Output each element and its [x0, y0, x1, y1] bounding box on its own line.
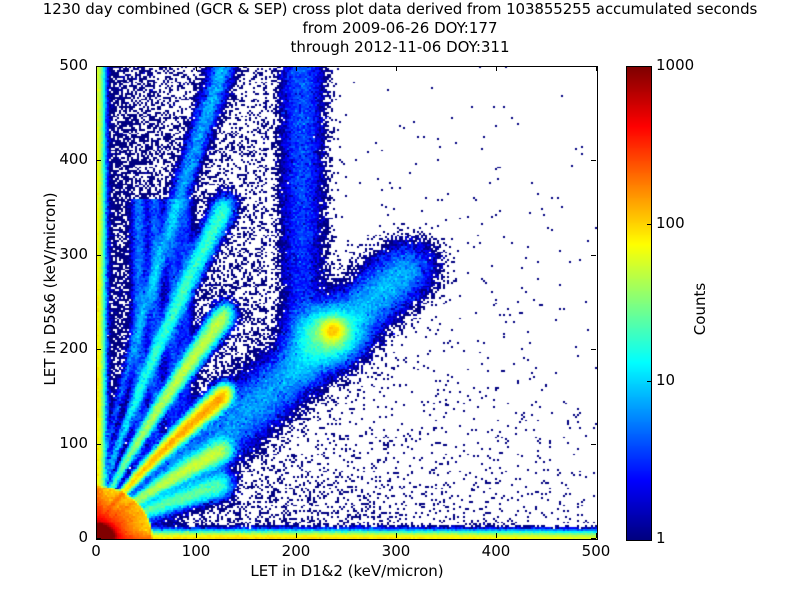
x-tick-mark-top [496, 66, 497, 71]
x-tick-label: 400 [466, 544, 526, 559]
y-tick-mark [96, 255, 101, 256]
y-tick-mark-right [591, 349, 596, 350]
x-tick-label: 200 [266, 544, 326, 559]
y-tick-mark-right [591, 444, 596, 445]
y-tick-mark [96, 160, 101, 161]
y-tick-label: 400 [28, 152, 88, 167]
density-scatter-canvas [97, 67, 597, 539]
x-tick-mark-top [396, 66, 397, 71]
y-tick-mark [96, 444, 101, 445]
x-tick-mark [396, 533, 397, 538]
x-tick-mark [196, 533, 197, 538]
chart-page: 1230 day combined (GCR & SEP) cross plot… [0, 0, 800, 600]
colorbar-tick-label: 1 [656, 531, 666, 546]
x-axis-label: LET in D1&2 (keV/micron) [96, 562, 598, 580]
x-tick-mark-top [596, 66, 597, 71]
y-tick-mark-right [591, 160, 596, 161]
x-tick-mark [596, 533, 597, 538]
x-tick-mark-top [196, 66, 197, 71]
colorbar-tick-label: 100 [656, 216, 685, 231]
y-tick-mark-right [591, 538, 596, 539]
x-tick-label: 300 [366, 544, 426, 559]
y-tick-mark [96, 538, 101, 539]
colorbar-gradient [627, 67, 651, 540]
y-tick-mark-right [591, 255, 596, 256]
y-tick-mark-right [591, 66, 596, 67]
colorbar [626, 66, 652, 541]
y-tick-mark [96, 66, 101, 67]
x-tick-label: 0 [66, 544, 126, 559]
colorbar-tick-mark [647, 381, 651, 382]
plot-area [96, 66, 598, 540]
x-tick-label: 500 [566, 544, 626, 559]
y-tick-label: 0 [28, 530, 88, 545]
chart-title-line-2: from 2009-06-26 DOY:177 [0, 19, 800, 38]
chart-title-block: 1230 day combined (GCR & SEP) cross plot… [0, 0, 800, 57]
colorbar-tick-label: 1000 [656, 58, 694, 73]
x-tick-mark [296, 533, 297, 538]
chart-title-line-1: 1230 day combined (GCR & SEP) cross plot… [0, 0, 800, 19]
colorbar-label: Counts [691, 209, 709, 409]
x-tick-label: 100 [166, 544, 226, 559]
chart-title-line-3: through 2012-11-06 DOY:311 [0, 38, 800, 57]
colorbar-tick-mark [647, 224, 651, 225]
y-tick-label: 100 [28, 436, 88, 451]
y-axis-label: LET in D5&6 (keV/micron) [41, 169, 59, 409]
x-tick-mark-top [296, 66, 297, 71]
y-tick-mark [96, 349, 101, 350]
x-tick-mark [496, 533, 497, 538]
y-tick-label: 500 [28, 58, 88, 73]
colorbar-tick-label: 10 [656, 373, 675, 388]
